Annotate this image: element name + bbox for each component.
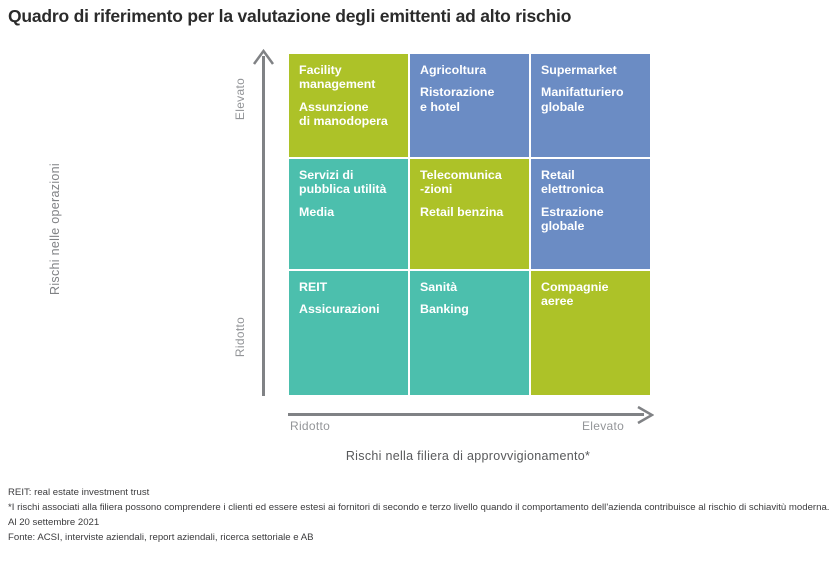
y-axis-arrow-icon [252, 49, 275, 65]
cell-line: globale [541, 219, 642, 233]
cell-line: Sanità [420, 280, 521, 294]
cell-line: di manodopera [299, 114, 400, 128]
cell-line: Retail benzina [420, 205, 521, 219]
cell-line: pubblica utilità [299, 182, 400, 196]
matrix-grid: Facility management Assunzione di manodo… [288, 53, 651, 396]
cell-line: Facility [299, 63, 400, 77]
cell-line: Compagnie [541, 280, 642, 294]
x-axis-title: Rischi nella filiera di approvvigionamen… [288, 449, 648, 463]
x-axis-line [288, 413, 644, 416]
matrix-cell-low-ops-mid-supply[interactable]: Sanità Banking [409, 270, 530, 396]
cell-entry: Assunzione di manodopera [299, 100, 400, 129]
cell-entry: Sanità [420, 280, 521, 294]
y-axis-title: Rischi nelle operazioni [48, 129, 62, 329]
matrix-cell-high-ops-high-supply[interactable]: Supermarket Manifatturiero globale [530, 53, 651, 158]
x-axis-tick-high: Elevato [582, 419, 624, 433]
cell-line: e hotel [420, 100, 521, 114]
cell-entry: Agricoltura [420, 63, 521, 77]
x-axis-tick-low: Ridotto [290, 419, 330, 433]
matrix-cell-mid-ops-low-supply[interactable]: Servizi di pubblica utilità Media [288, 158, 409, 270]
risk-matrix-chart: Rischi nelle operazioni Elevato Ridotto … [0, 40, 840, 480]
cell-entry: Banking [420, 302, 521, 316]
cell-line: Banking [420, 302, 521, 316]
cell-line: management [299, 77, 400, 91]
cell-entry: Estrazione globale [541, 205, 642, 234]
cell-line: REIT [299, 280, 400, 294]
matrix-cell-mid-ops-high-supply[interactable]: Retail elettronica Estrazione globale [530, 158, 651, 270]
cell-entry: Compagnie aeree [541, 280, 642, 309]
cell-entry: Facility management [299, 63, 400, 92]
x-axis-arrow-icon [636, 405, 654, 425]
cell-line: Manifatturiero [541, 85, 642, 99]
cell-entry: Supermarket [541, 63, 642, 77]
cell-entry: Assicurazioni [299, 302, 400, 316]
cell-entry: Retail elettronica [541, 168, 642, 197]
cell-line: Estrazione [541, 205, 642, 219]
footnotes: REIT: real estate investment trust *I ri… [8, 485, 836, 546]
cell-line: Assunzione [299, 100, 400, 114]
y-axis-line [262, 56, 265, 396]
matrix-cell-mid-ops-mid-supply[interactable]: Telecomunica -zioni Retail benzina [409, 158, 530, 270]
matrix-cell-low-ops-low-supply[interactable]: REIT Assicurazioni [288, 270, 409, 396]
cell-line: globale [541, 100, 642, 114]
cell-line: Servizi di [299, 168, 400, 182]
matrix-cell-high-ops-low-supply[interactable]: Facility management Assunzione di manodo… [288, 53, 409, 158]
cell-entry: Servizi di pubblica utilità [299, 168, 400, 197]
page-title: Quadro di riferimento per la valutazione… [8, 6, 571, 27]
cell-entry: Telecomunica -zioni [420, 168, 521, 197]
cell-line: elettronica [541, 182, 642, 196]
matrix-cell-high-ops-mid-supply[interactable]: Agricoltura Ristorazione e hotel [409, 53, 530, 158]
cell-line: Retail [541, 168, 642, 182]
cell-line: -zioni [420, 182, 521, 196]
matrix-cell-low-ops-high-supply[interactable]: Compagnie aeree [530, 270, 651, 396]
footnote-source: Fonte: ACSI, interviste aziendali, repor… [8, 530, 836, 545]
cell-entry: Manifatturiero globale [541, 85, 642, 114]
y-axis-tick-low: Ridotto [233, 297, 247, 377]
cell-line: Ristorazione [420, 85, 521, 99]
y-axis-tick-high: Elevato [233, 59, 247, 139]
cell-line: Telecomunica [420, 168, 521, 182]
cell-entry: Media [299, 205, 400, 219]
cell-entry: Ristorazione e hotel [420, 85, 521, 114]
cell-line: Assicurazioni [299, 302, 400, 316]
cell-line: Media [299, 205, 400, 219]
cell-line: Supermarket [541, 63, 642, 77]
footnote-date: Al 20 settembre 2021 [8, 515, 836, 530]
cell-line: aeree [541, 294, 642, 308]
footnote-reit: REIT: real estate investment trust [8, 485, 836, 500]
cell-entry: REIT [299, 280, 400, 294]
cell-entry: Retail benzina [420, 205, 521, 219]
cell-line: Agricoltura [420, 63, 521, 77]
footnote-supply-chain: *I rischi associati alla filiera possono… [8, 500, 836, 515]
